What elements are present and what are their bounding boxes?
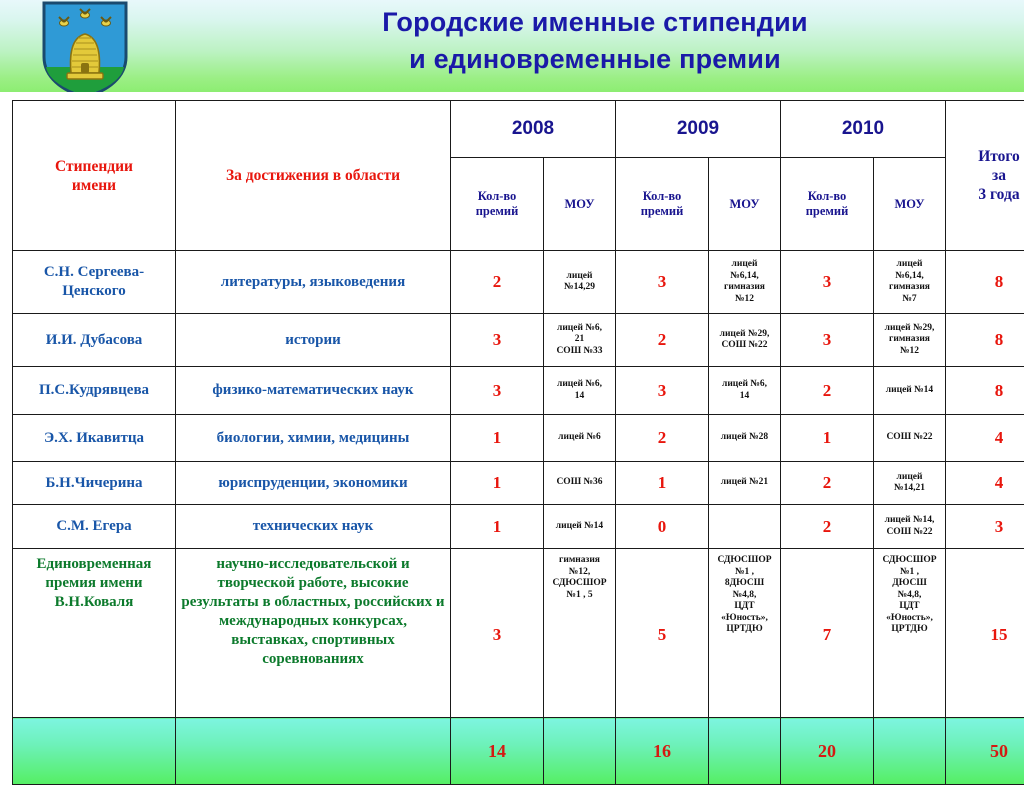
row-total: 4 — [946, 462, 1024, 505]
header-count-2009-line1: Кол-во — [620, 189, 704, 204]
header-count-2010-line2: премий — [785, 204, 869, 219]
table-header-row-top: Стипендии имени За достижения в области … — [13, 101, 1024, 158]
stipends-table: Стипендии имени За достижения в области … — [12, 100, 1024, 785]
row-field: литературы, языковедения — [176, 251, 451, 314]
table-row: С.М. Егера технических наук 1 лицей №14 … — [13, 505, 1024, 549]
page-title-line1: Городские именные стипендии — [200, 4, 990, 41]
table-header: Стипендии имени За достижения в области … — [13, 101, 1024, 251]
header-year-2008: 2008 — [451, 101, 616, 158]
row-count-2010: 3 — [781, 314, 874, 367]
totals-count-2009: 16 — [616, 718, 709, 785]
row-name: И.И. Дубасова — [13, 314, 176, 367]
row-count-2010: 2 — [781, 505, 874, 549]
header-count-2010: Кол-во премий — [781, 158, 874, 251]
row-school-2010: лицей №29,гимназия№12 — [874, 314, 946, 367]
row-total: 4 — [946, 415, 1024, 462]
row-count-2008: 1 — [451, 462, 544, 505]
row-field: технических наук — [176, 505, 451, 549]
header-total-line2: за — [950, 166, 1024, 185]
row-name: Б.Н.Чичерина — [13, 462, 176, 505]
header-count-2009-line2: премий — [620, 204, 704, 219]
row-count-2008: 3 — [451, 314, 544, 367]
header-count-2009: Кол-во премий — [616, 158, 709, 251]
header-year-2010: 2010 — [781, 101, 946, 158]
row-school-2010: лицей№6,14,гимназия№7 — [874, 251, 946, 314]
row-count-2009: 3 — [616, 251, 709, 314]
page-title: Городские именные стипендии и единовреме… — [200, 4, 990, 78]
row-school-2010: лицей№14,21 — [874, 462, 946, 505]
row-school-2010: лицей №14,СОШ №22 — [874, 505, 946, 549]
row-total: 8 — [946, 367, 1024, 415]
table-row: С.Н. Сергеева-Ценского литературы, языко… — [13, 251, 1024, 314]
totals-row: 14 16 20 50 — [13, 718, 1024, 785]
row-count-2008: 3 — [451, 367, 544, 415]
row-school-2010: лицей №14 — [874, 367, 946, 415]
page-banner: Городские именные стипендии и единовреме… — [0, 0, 1024, 92]
totals-school-2009 — [709, 718, 781, 785]
row-school-2008: СОШ №36 — [544, 462, 616, 505]
row-total: 8 — [946, 251, 1024, 314]
header-year-2009: 2009 — [616, 101, 781, 158]
row-count-2008: 3 — [451, 549, 544, 718]
table-row: Единовременная премия имени В.Н.Коваля н… — [13, 549, 1024, 718]
row-total: 8 — [946, 314, 1024, 367]
totals-school-2008 — [544, 718, 616, 785]
header-count-2010-line1: Кол-во — [785, 189, 869, 204]
row-school-2008: лицей№14,29 — [544, 251, 616, 314]
table-body: С.Н. Сергеева-Ценского литературы, языко… — [13, 251, 1024, 785]
header-name-line1: Стипендии — [17, 157, 171, 176]
row-count-2009: 2 — [616, 314, 709, 367]
row-count-2008: 1 — [451, 505, 544, 549]
row-field: биологии, химии, медицины — [176, 415, 451, 462]
row-school-2008: лицей №6,21СОШ №33 — [544, 314, 616, 367]
row-total: 3 — [946, 505, 1024, 549]
row-count-2009: 2 — [616, 415, 709, 462]
row-count-2008: 1 — [451, 415, 544, 462]
row-count-2010: 2 — [781, 462, 874, 505]
row-school-2009: лицей №29,СОШ №22 — [709, 314, 781, 367]
row-school-2009: лицей№6,14,гимназия№12 — [709, 251, 781, 314]
totals-spacer-name — [13, 718, 176, 785]
row-name: П.С.Кудрявцева — [13, 367, 176, 415]
row-count-2010: 2 — [781, 367, 874, 415]
header-school-2009: МОУ — [709, 158, 781, 251]
row-name: Единовременная премия имени В.Н.Коваля — [13, 549, 176, 718]
row-field: научно-исследовательской и творческой ра… — [176, 549, 451, 718]
totals-school-2010 — [874, 718, 946, 785]
row-name: Э.Х. Икавитца — [13, 415, 176, 462]
row-field: физико-математических наук — [176, 367, 451, 415]
row-school-2010: СДЮСШОР№1 ,ДЮСШ№4,8,ЦДТ«Юность»,ЦРТДЮ — [874, 549, 946, 718]
row-school-2009: СДЮСШОР№1 ,8ДЮСШ№4,8,ЦДТ«Юность»,ЦРТДЮ — [709, 549, 781, 718]
header-count-2008-line1: Кол-во — [455, 189, 539, 204]
header-field-column: За достижения в области — [176, 101, 451, 251]
header-school-2010: МОУ — [874, 158, 946, 251]
row-total: 15 — [946, 549, 1024, 718]
header-name-line2: имени — [17, 176, 171, 195]
row-field: истории — [176, 314, 451, 367]
totals-count-2010: 20 — [781, 718, 874, 785]
row-school-2008: лицей №14 — [544, 505, 616, 549]
table-row: И.И. Дубасова истории 3 лицей №6,21СОШ №… — [13, 314, 1024, 367]
header-count-2008-line2: премий — [455, 204, 539, 219]
row-school-2008: лицей №6 — [544, 415, 616, 462]
row-name: С.Н. Сергеева-Ценского — [13, 251, 176, 314]
header-count-2008: Кол-во премий — [451, 158, 544, 251]
row-count-2009: 1 — [616, 462, 709, 505]
row-school-2009 — [709, 505, 781, 549]
totals-grand: 50 — [946, 718, 1024, 785]
row-count-2009: 0 — [616, 505, 709, 549]
row-field: юриспруденции, экономики — [176, 462, 451, 505]
page-title-line2: и единовременные премии — [200, 41, 990, 78]
row-count-2009: 3 — [616, 367, 709, 415]
row-count-2008: 2 — [451, 251, 544, 314]
table-row: Б.Н.Чичерина юриспруденции, экономики 1 … — [13, 462, 1024, 505]
totals-spacer-field — [176, 718, 451, 785]
row-school-2010: СОШ №22 — [874, 415, 946, 462]
row-school-2009: лицей №28 — [709, 415, 781, 462]
table-row: П.С.Кудрявцева физико-математических нау… — [13, 367, 1024, 415]
header-school-2008: МОУ — [544, 158, 616, 251]
header-name-column: Стипендии имени — [13, 101, 176, 251]
tambov-coat-of-arms-icon — [38, 1, 132, 92]
row-school-2008: гимназия№12,СДЮСШОР№1 , 5 — [544, 549, 616, 718]
stipends-table-container: Стипендии имени За достижения в области … — [12, 100, 1012, 785]
row-school-2009: лицей №21 — [709, 462, 781, 505]
row-count-2010: 3 — [781, 251, 874, 314]
totals-count-2008: 14 — [451, 718, 544, 785]
row-count-2010: 1 — [781, 415, 874, 462]
row-school-2008: лицей №6,14 — [544, 367, 616, 415]
header-total-line1: Итого — [950, 147, 1024, 166]
row-school-2009: лицей №6,14 — [709, 367, 781, 415]
header-total-line3: 3 года — [950, 185, 1024, 204]
row-name: С.М. Егера — [13, 505, 176, 549]
table-row: Э.Х. Икавитца биологии, химии, медицины … — [13, 415, 1024, 462]
row-count-2009: 5 — [616, 549, 709, 718]
header-total-column: Итого за 3 года — [946, 101, 1024, 251]
row-count-2010: 7 — [781, 549, 874, 718]
